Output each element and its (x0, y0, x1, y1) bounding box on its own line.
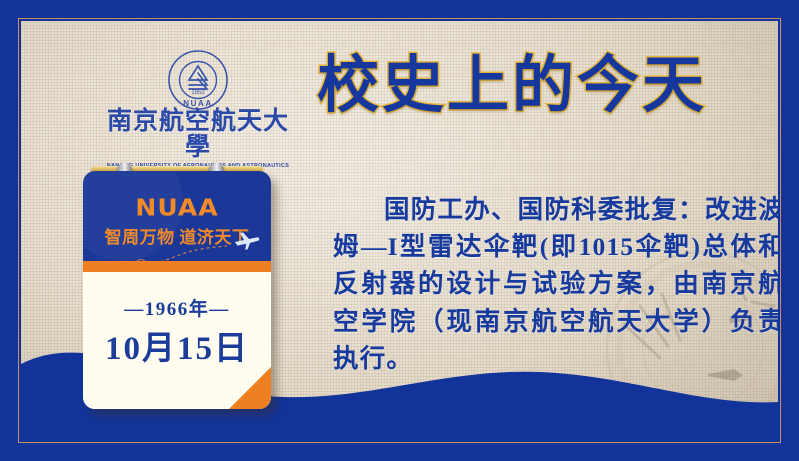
inner-gold-border (18, 18, 781, 443)
poster-canvas: 1952 NUAA 南京航空航天大學 NANJING UNIVERSITY OF… (0, 0, 799, 461)
